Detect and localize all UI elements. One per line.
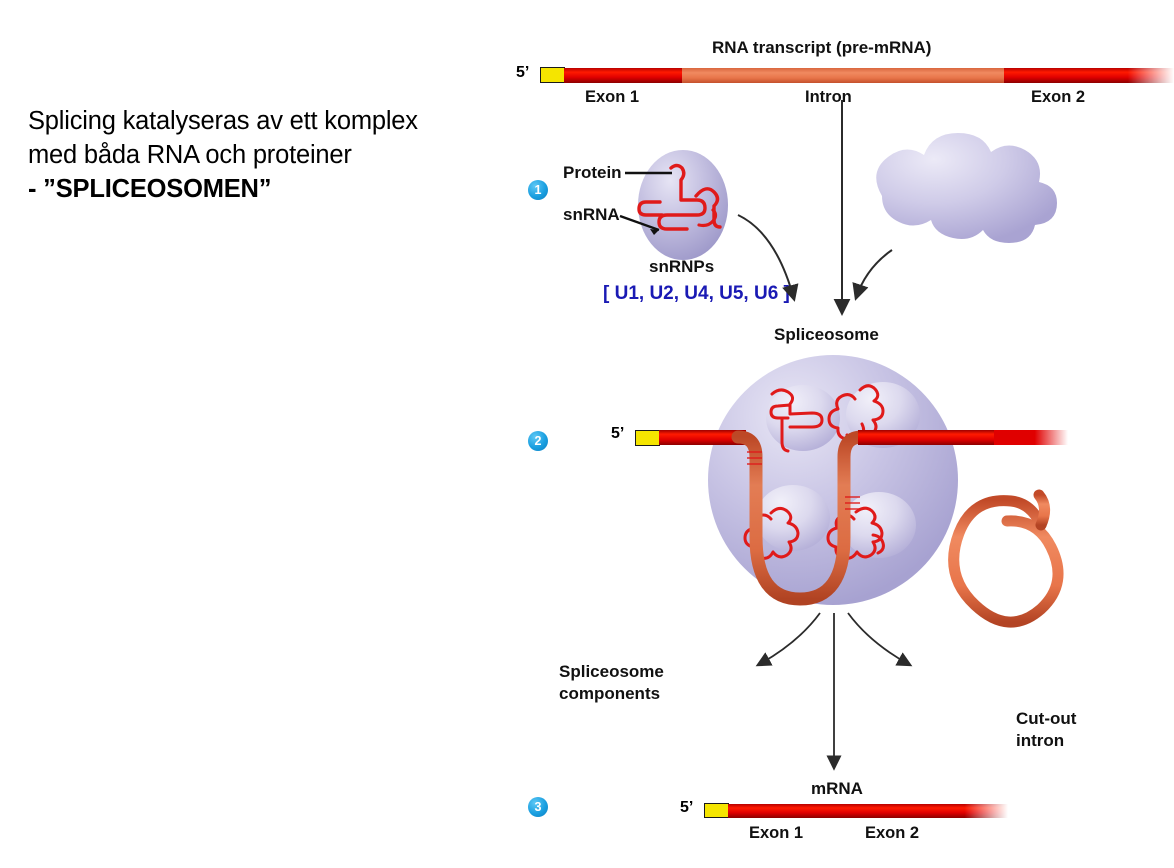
arrow-to-components (758, 613, 820, 665)
cutout-intron-lariat (954, 495, 1058, 622)
spliceosome-complex (708, 355, 958, 605)
caption-emphasis: - ”SPLICEOSOMEN” (28, 172, 498, 206)
arrow-proteins-to-spliceosome (856, 250, 892, 298)
arrow-snrnp-to-spliceosome (738, 215, 794, 299)
slide-caption: Splicing katalyseras av ett komplex med … (28, 104, 498, 206)
splicing-diagram: RNA transcript (pre-mRNA) 5’ Exon 1 Intr… (500, 0, 1174, 868)
snrnp-particle (638, 150, 728, 260)
other-proteins-blob (876, 133, 1057, 243)
arrow-to-cutout-intron (848, 613, 910, 665)
diagram-artwork (500, 0, 1174, 868)
caption-line-1: Splicing katalyseras av ett komplex (28, 104, 498, 138)
caption-line-2: med båda RNA och proteiner (28, 138, 498, 172)
